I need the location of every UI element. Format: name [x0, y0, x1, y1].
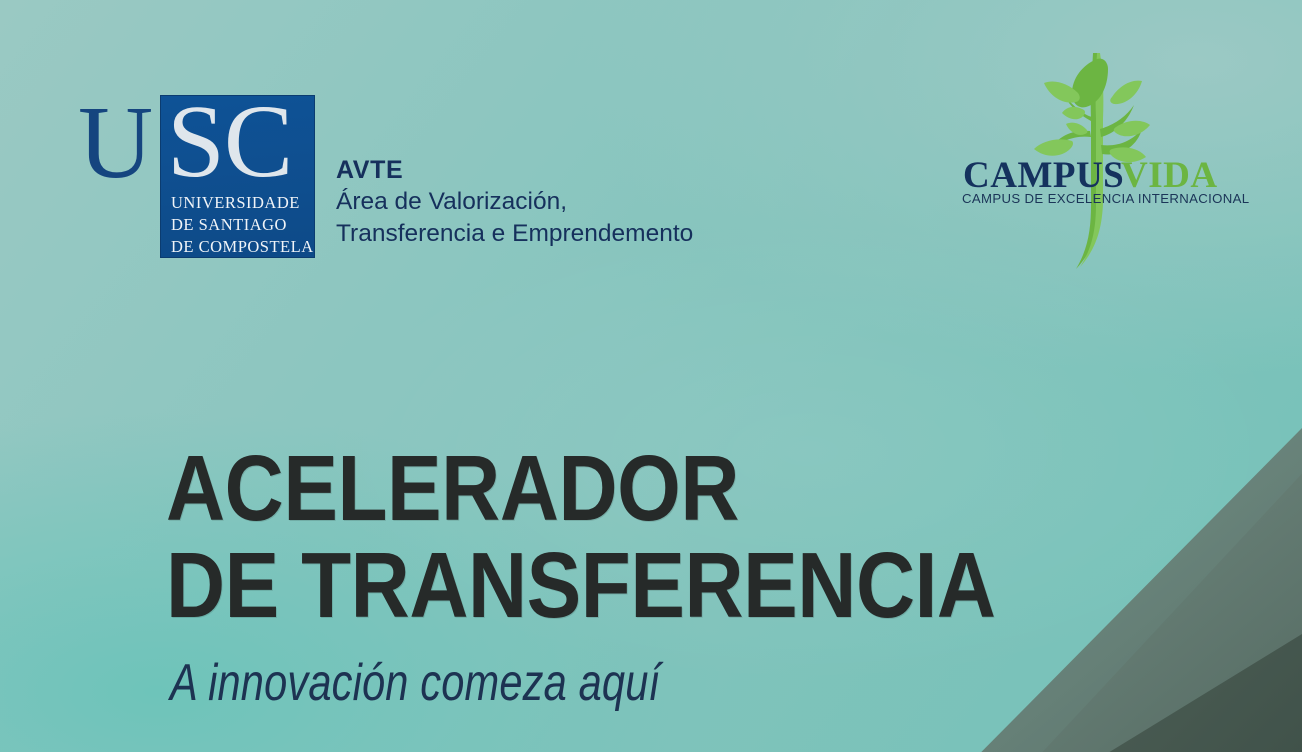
vida-word: VIDA	[1121, 157, 1218, 194]
usc-letter-u: U	[78, 91, 151, 195]
usc-logo-box: SC UNIVERSIDADE DE SANTIAGO DE COMPOSTEL…	[160, 95, 315, 258]
campus-word: CAMPUS	[963, 157, 1124, 194]
usc-name-line-3: DE COMPOSTELA	[171, 236, 314, 258]
avte-acronym: AVTE	[336, 155, 693, 186]
presentation-slide: U SC UNIVERSIDADE DE SANTIAGO DE COMPOST…	[0, 0, 1302, 752]
page-title-line-2: DE TRANSFERENCIA	[166, 537, 996, 634]
page-title-line-1: ACELERADOR	[166, 440, 996, 537]
page-title: ACELERADOR DE TRANSFERENCIA	[166, 440, 996, 633]
avte-line-1: Área de Valorización,	[336, 186, 693, 219]
usc-letters-sc: SC	[167, 90, 292, 194]
usc-name-line-1: UNIVERSIDADE	[171, 192, 314, 214]
avte-line-2: Transferencia e Emprendemento	[336, 218, 693, 251]
avte-block: AVTE Área de Valorización, Transferencia…	[336, 155, 693, 251]
campus-vida-tagline: CAMPUS DE EXCELENCIA INTERNACIONAL	[962, 191, 1249, 206]
campus-vida-logo: CAMPUS VIDA CAMPUS DE EXCELENCIA INTERNA…	[960, 45, 1230, 285]
usc-university-name: UNIVERSIDADE DE SANTIAGO DE COMPOSTELA	[171, 192, 314, 257]
slide-tagline: A innovación comeza aquí	[170, 655, 660, 712]
usc-name-line-2: DE SANTIAGO	[171, 214, 314, 236]
usc-logo: U SC UNIVERSIDADE DE SANTIAGO DE COMPOST…	[78, 95, 318, 260]
